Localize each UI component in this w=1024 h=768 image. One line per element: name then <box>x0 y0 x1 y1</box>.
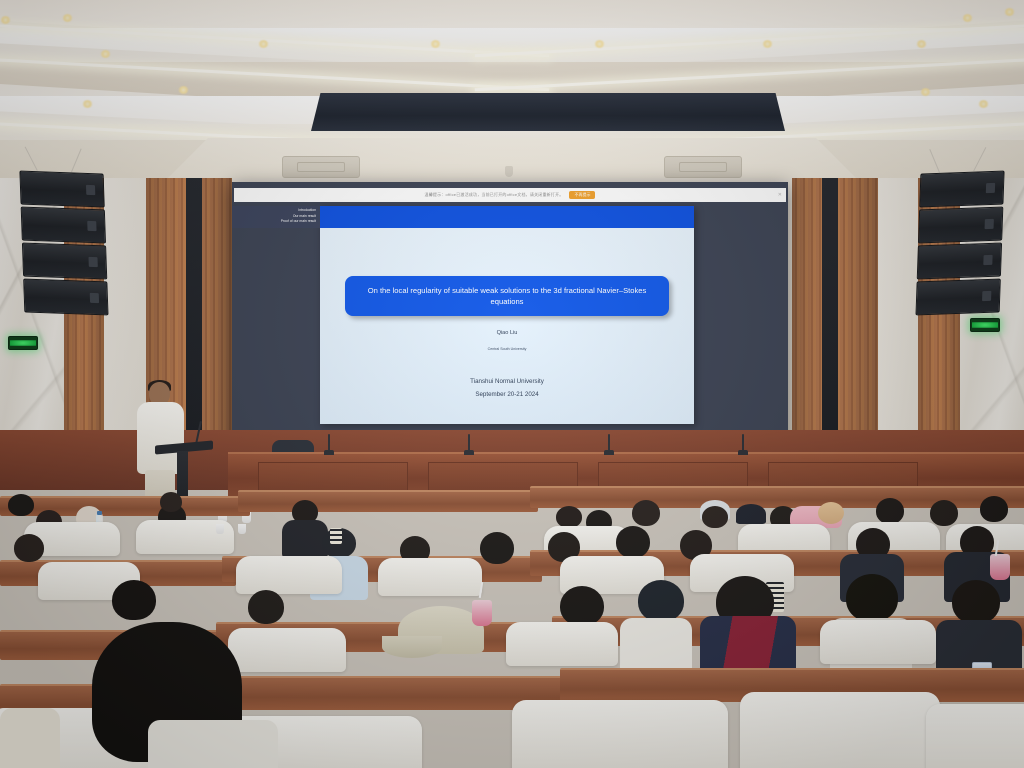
audience-torso-foreground <box>0 708 60 768</box>
projected-desktop: 温馨提示：office已激活成功，当前已打开的office文档，请关闭重新打开。… <box>232 182 788 460</box>
ceiling-camera <box>505 166 513 177</box>
ceiling-downlight <box>978 100 989 108</box>
bottle-cap <box>97 511 102 515</box>
ceiling-downlight <box>100 50 111 58</box>
dismiss-notification-button[interactable]: 不再提示 <box>569 191 595 199</box>
exit-sign-left-icon <box>8 336 38 350</box>
speaker-module <box>21 207 106 244</box>
chair-cover <box>926 704 1024 768</box>
slide-date: September 20-21 2024 <box>320 388 694 401</box>
audience-head <box>876 498 904 524</box>
audience-head <box>638 580 684 622</box>
baseball-cap <box>736 504 766 524</box>
slide-venue-and-date: Tianshui Normal University September 20-… <box>320 375 694 401</box>
speaker-module <box>915 279 1000 316</box>
slide-venue: Tianshui Normal University <box>320 375 694 388</box>
audience-head <box>248 590 284 624</box>
speaker-module <box>22 243 107 280</box>
chair-cover <box>378 558 482 596</box>
table-microphone <box>468 434 470 452</box>
audience-desk-row <box>0 496 250 516</box>
plush-toy-head <box>818 502 844 524</box>
lecture-hall-photo: 温馨提示：office已激活成功，当前已打开的office文档，请关闭重新打开。… <box>0 0 1024 768</box>
ceiling-downlight <box>82 100 93 108</box>
exit-sign-right-icon <box>970 318 1000 332</box>
chair-cover <box>228 628 346 672</box>
close-icon[interactable]: ✕ <box>778 192 782 198</box>
ceiling-downlight <box>1004 8 1015 16</box>
audience-head <box>930 500 958 526</box>
baseball-cap-brim <box>382 636 442 658</box>
line-array-speaker-left <box>19 171 108 318</box>
paper-cup <box>216 524 224 534</box>
slide-header-bar <box>320 206 694 228</box>
slide-navigation-outline: Introduction Our main result Proof of ou… <box>232 206 320 228</box>
audience-head <box>616 526 650 558</box>
ceiling-downlight <box>0 16 11 24</box>
slide-title: On the local regularity of suitable weak… <box>345 276 669 316</box>
chair-cover <box>512 700 728 768</box>
hair-claw-clip <box>330 528 342 544</box>
chair-cover <box>236 556 342 594</box>
audience-head <box>14 534 44 562</box>
slide-affiliation: Central South University <box>320 347 694 351</box>
ceiling-downlight <box>962 14 973 22</box>
nav-item-proof: Proof of our main result <box>232 219 316 225</box>
table-microphone <box>328 434 330 452</box>
air-conditioning-vent <box>664 156 742 178</box>
ceiling-downlight <box>258 40 269 48</box>
bubble-tea-drink <box>990 554 1010 580</box>
speaker-module <box>918 207 1003 244</box>
paper-cup <box>238 524 246 534</box>
audience-head <box>480 532 514 564</box>
audience-head <box>846 574 898 622</box>
audience-head <box>702 506 728 528</box>
speaker-module <box>23 279 108 316</box>
air-conditioning-vent <box>282 156 360 178</box>
ceiling-downlight <box>920 88 931 96</box>
ceiling-downlight <box>62 14 73 22</box>
audience-head <box>556 506 582 528</box>
table-microphone <box>742 434 744 452</box>
chair-cover <box>506 622 618 666</box>
audience-torso <box>282 520 328 558</box>
suspended-ceiling-beam <box>311 93 785 131</box>
audience-head <box>632 500 660 526</box>
audience-head <box>8 494 34 516</box>
speaker-module <box>19 171 104 208</box>
audience-torso-foreground <box>148 720 278 768</box>
audience-head <box>112 580 156 620</box>
ceiling-downlight <box>178 86 189 94</box>
audience-desk-row <box>238 490 538 512</box>
audience-head <box>560 586 604 626</box>
chair-cover <box>740 692 940 768</box>
notification-text: 温馨提示：office已激活成功，当前已打开的office文档，请关闭重新打开。 <box>425 192 564 198</box>
audience-area <box>0 470 1024 768</box>
ceiling-downlight <box>916 40 927 48</box>
table-microphone <box>608 434 610 452</box>
audience-torso <box>620 618 692 674</box>
speaker-module <box>917 243 1002 280</box>
office-notification-bar[interactable]: 温馨提示：office已激活成功，当前已打开的office文档，请关闭重新打开。… <box>234 188 786 202</box>
projection-screen-frame: 温馨提示：office已激活成功，当前已打开的office文档，请关闭重新打开。… <box>232 182 788 460</box>
speaker-module <box>919 171 1004 208</box>
audience-head <box>160 492 182 512</box>
beamer-slide: Introduction Our main result Proof of ou… <box>320 206 694 424</box>
bubble-tea-drink <box>472 600 492 626</box>
slide-author: Qiao Liu <box>320 330 694 336</box>
ceiling-downlight <box>594 40 605 48</box>
audience-head <box>980 496 1008 522</box>
audience-head <box>952 580 1000 624</box>
ceiling-downlight <box>430 40 441 48</box>
line-array-speaker-right <box>915 171 1004 318</box>
ceiling-downlight <box>762 40 773 48</box>
chair-cover <box>820 620 936 664</box>
